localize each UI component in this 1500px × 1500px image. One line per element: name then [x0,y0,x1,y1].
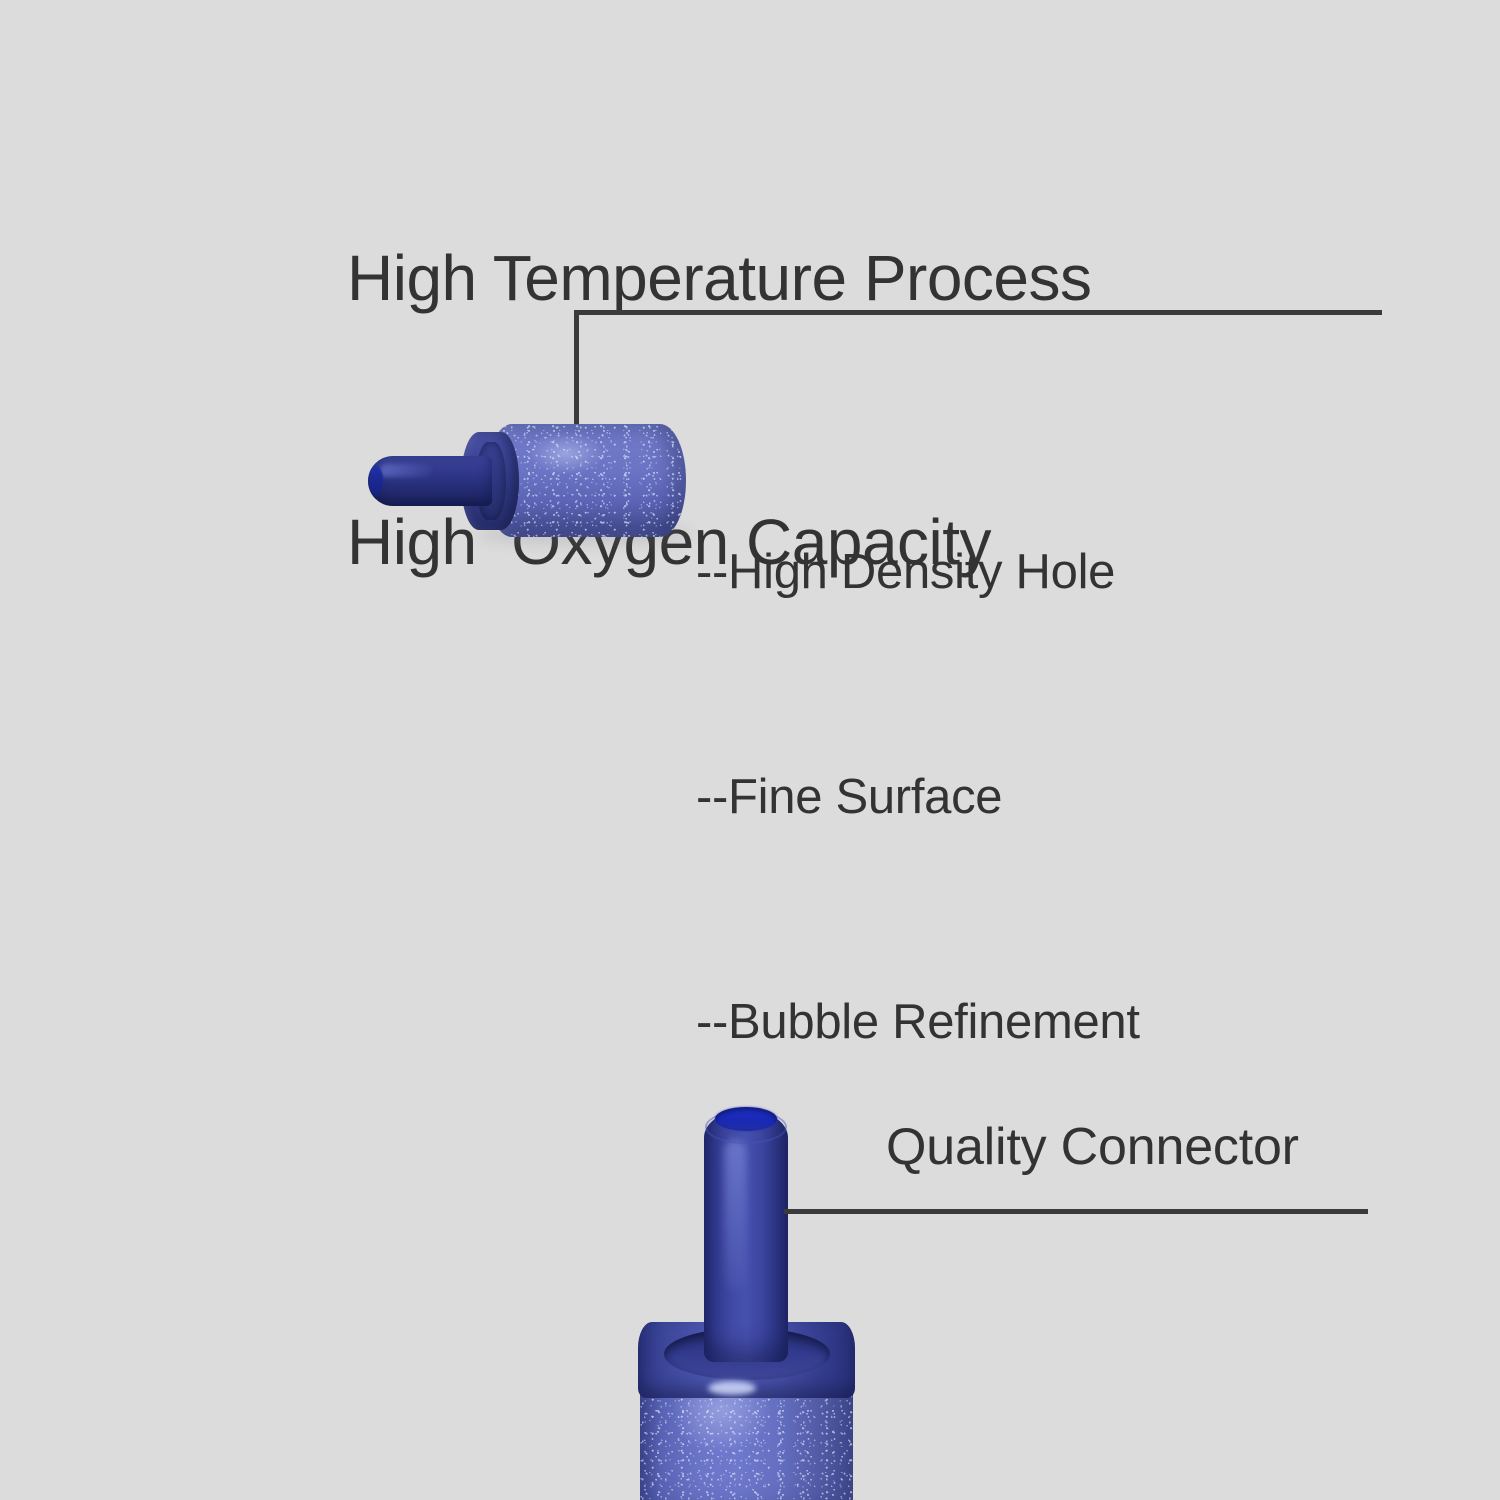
callout-quality-connector: Quality Connector [886,1117,1299,1177]
connector-nozzle-highlight [724,1140,746,1290]
leader-line-horizontal-top [574,310,1382,315]
leader-line-vertical-top [574,310,579,428]
connector-nozzle-stem [704,1112,788,1362]
stone-collar-highlight [708,1381,756,1395]
feature-item-high-density-hole: --High Density Hole [696,535,1140,610]
page-title-line-1: High Temperature Process [347,234,1347,322]
connector-nozzle-opening [715,1107,777,1131]
feature-item-fine-surface: --Fine Surface [696,760,1140,835]
stone-nozzle-highlight [380,464,432,477]
leader-line-horizontal-bottom [784,1209,1368,1214]
feature-item-bubble-refinement: --Bubble Refinement [696,985,1140,1060]
stone-nozzle-tip [369,466,383,496]
air-stone-vertical-image [612,1100,882,1500]
air-stone-horizontal-image [366,418,696,543]
product-infographic: High Temperature Process High Oxygen Cap… [0,0,1500,1500]
feature-list: --High Density Hole --Fine Surface --Bub… [696,385,1140,1210]
